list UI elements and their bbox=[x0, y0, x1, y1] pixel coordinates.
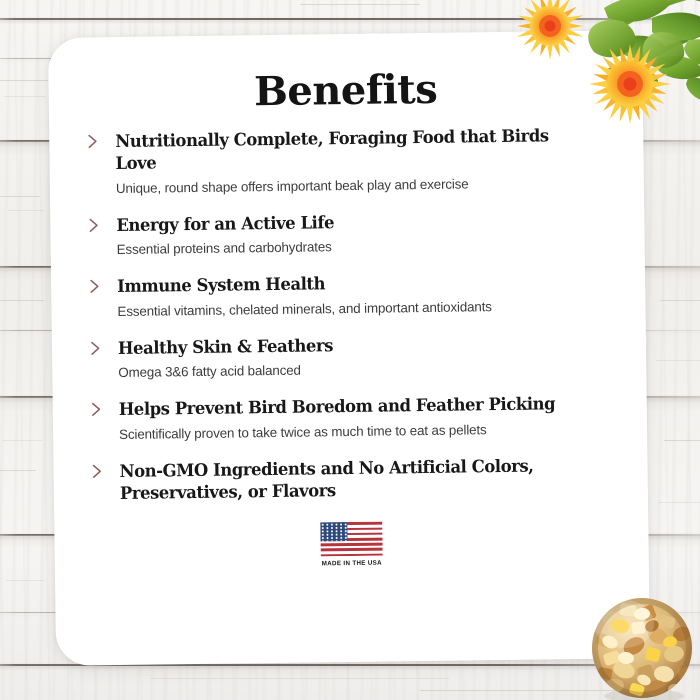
chevron-right-icon bbox=[86, 216, 102, 234]
wood-grain bbox=[150, 678, 450, 679]
wood-grain bbox=[4, 96, 46, 97]
wood-grain bbox=[656, 360, 700, 361]
flag-stars bbox=[320, 522, 347, 541]
list-item: Energy for an Active Life Essential prot… bbox=[86, 208, 615, 259]
list-item: Helps Prevent Bird Boredom and Feather P… bbox=[89, 393, 618, 444]
wood-grain bbox=[658, 502, 700, 503]
benefit-subtext: Omega 3&6 fatty acid balanced bbox=[118, 358, 616, 383]
list-item: Nutritionally Complete, Foraging Food th… bbox=[85, 125, 614, 199]
wood-grain bbox=[6, 580, 44, 581]
benefits-list: Nutritionally Complete, Foraging Food th… bbox=[85, 125, 618, 506]
chevron-right-icon bbox=[89, 400, 105, 418]
made-in-usa-badge: MADE IN THE USA bbox=[319, 522, 384, 567]
benefit-heading: Nutritionally Complete, Foraging Food th… bbox=[115, 125, 591, 176]
us-flag-icon bbox=[320, 522, 382, 557]
flag-stripe bbox=[321, 548, 383, 551]
wood-grain bbox=[300, 4, 420, 5]
benefit-subtext: Scientifically proven to take twice as m… bbox=[119, 419, 617, 444]
made-in-usa-label: MADE IN THE USA bbox=[321, 559, 383, 567]
wood-grain bbox=[2, 440, 42, 441]
flag-canton bbox=[320, 522, 347, 541]
wood-grain bbox=[8, 210, 44, 211]
benefit-subtext: Essential vitamins, chelated minerals, a… bbox=[117, 296, 615, 321]
flag-stripe bbox=[321, 553, 383, 556]
list-item: Non-GMO Ingredients and No Artificial Co… bbox=[89, 454, 618, 506]
benefit-heading: Helps Prevent Bird Boredom and Feather P… bbox=[119, 393, 595, 422]
wood-grain bbox=[420, 690, 640, 691]
benefit-subtext: Essential proteins and carbohydrates bbox=[117, 235, 615, 260]
chevron-right-icon bbox=[89, 462, 105, 480]
wood-grain bbox=[664, 440, 700, 441]
benefit-heading: Energy for an Active Life bbox=[116, 209, 592, 238]
list-item: Healthy Skin & Feathers Omega 3&6 fatty … bbox=[88, 331, 617, 382]
chevron-right-icon bbox=[88, 339, 104, 357]
wood-grain bbox=[0, 470, 36, 471]
benefit-heading: Healthy Skin & Feathers bbox=[118, 332, 594, 361]
plank-seam bbox=[0, 18, 700, 20]
benefit-heading: Immune System Health bbox=[117, 270, 593, 299]
chevron-right-icon bbox=[85, 132, 101, 150]
flag-stripe bbox=[321, 543, 383, 546]
wood-grain bbox=[0, 300, 44, 301]
list-item: Immune System Health Essential vitamins,… bbox=[87, 270, 616, 321]
benefit-subtext: Unique, round shape offers important bea… bbox=[116, 173, 614, 198]
wood-grain bbox=[0, 196, 40, 197]
wood-grain bbox=[660, 300, 700, 301]
chevron-right-icon bbox=[87, 277, 103, 295]
wood-grain bbox=[0, 80, 48, 81]
benefit-heading: Non-GMO Ingredients and No Artificial Co… bbox=[119, 454, 595, 505]
benefits-card: Benefits Nutritionally Complete, Foragin… bbox=[48, 30, 650, 666]
product-benefits-graphic: Benefits Nutritionally Complete, Foragin… bbox=[0, 0, 700, 700]
page-title: Benefits bbox=[78, 67, 613, 116]
